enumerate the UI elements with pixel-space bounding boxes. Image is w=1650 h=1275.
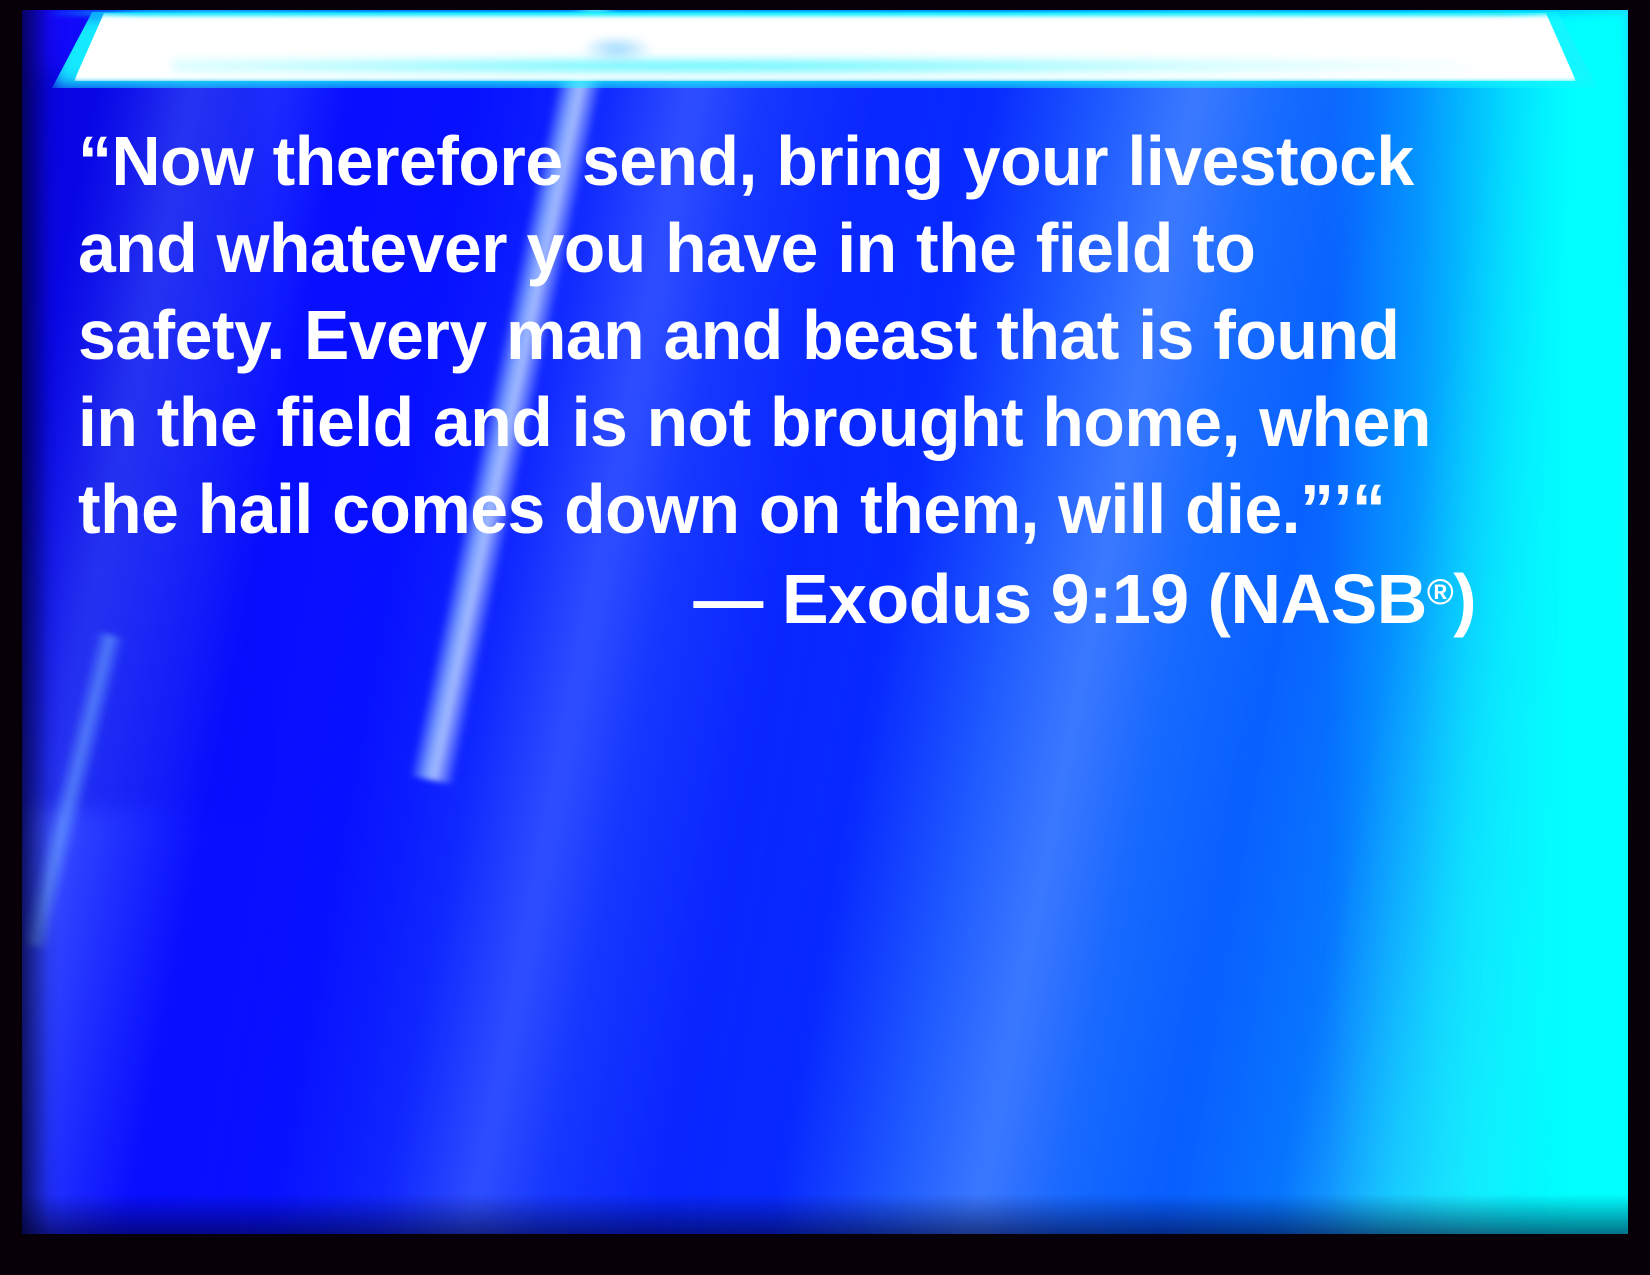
verse-reference-book: Exodus: [782, 560, 1032, 638]
verse-reference-translation: NASB: [1231, 560, 1427, 638]
verse-line: in the field and is not brought home, wh…: [78, 379, 1436, 466]
verse-body: “Now therefore send, bring your livestoc…: [78, 118, 1436, 553]
background-bottom-shadow: [22, 1194, 1628, 1234]
verse-line: safety. Every man and beast that is foun…: [78, 292, 1436, 379]
verse-reference-open-paren: (: [1189, 560, 1231, 638]
verse-slide: “Now therefore send, bring your livestoc…: [0, 0, 1650, 1275]
verse-reference-close-paren: ): [1453, 560, 1476, 638]
verse-reference-chapter-verse: 9:19: [1051, 560, 1189, 638]
verse-line: the hail comes down on them, will die.”’…: [78, 466, 1436, 553]
verse-reference: — Exodus 9:19 (NASB®): [78, 553, 1478, 645]
verse-reference-dash: —: [693, 560, 781, 638]
verse-text-block: “Now therefore send, bring your livestoc…: [78, 118, 1478, 645]
background-left-shadow: [22, 10, 60, 1234]
banner-center-notch: [582, 36, 652, 62]
verse-line: and whatever you have in the field to: [78, 205, 1436, 292]
registered-trademark-icon: ®: [1427, 571, 1453, 612]
banner-inner-cyan-streak: [172, 58, 1472, 74]
banner-top-cyan-line: [46, 10, 1604, 16]
verse-line: “Now therefore send, bring your livestoc…: [78, 118, 1436, 205]
top-banner: [22, 10, 1628, 102]
